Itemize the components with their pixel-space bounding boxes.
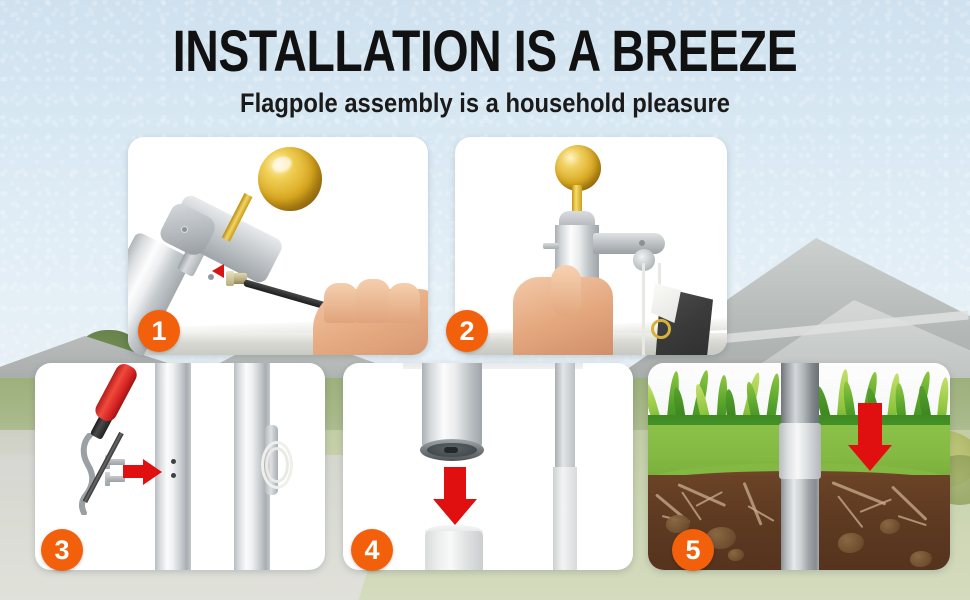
halyard-rope — [642, 263, 645, 355]
step-badge-5: 5 — [672, 529, 714, 571]
flagpole-bottom-section — [781, 363, 819, 425]
pilot-hole-upper — [171, 459, 176, 464]
finger — [356, 279, 390, 323]
swivel-truck-arm — [593, 233, 665, 254]
hex-key-tool — [243, 279, 331, 311]
finger — [388, 283, 420, 323]
assembled-pole-upper — [555, 363, 575, 475]
screwdriver-handle — [92, 363, 140, 424]
page-title: INSTALLATION IS A BREEZE — [97, 18, 873, 85]
assembled-pole-lower — [553, 467, 577, 570]
step-badge-2: 2 — [446, 310, 488, 352]
red-arrow-down-icon — [848, 403, 892, 473]
rope-coil-inner — [265, 447, 289, 483]
arm-screw — [639, 240, 645, 246]
flagpole-lower-section — [425, 531, 483, 570]
flagpole-upper-section — [422, 363, 482, 449]
snap-hook-ring — [651, 319, 671, 339]
sleeve-collar — [779, 423, 821, 479]
alignment-slot — [444, 447, 458, 453]
page-subtitle: Flagpole assembly is a household pleasur… — [58, 88, 912, 119]
red-arrow-down-icon — [433, 467, 477, 525]
infographic-canvas: INSTALLATION IS A BREEZE Flagpole assemb… — [0, 0, 970, 600]
thumb — [551, 265, 581, 317]
cap-screw — [182, 227, 187, 232]
step-badge-3: 3 — [41, 529, 83, 571]
pilot-hole-lower — [171, 473, 176, 478]
finger — [324, 283, 358, 323]
step-badge-4: 4 — [351, 529, 393, 571]
set-screw-head — [226, 271, 234, 286]
step-panel-2 — [455, 137, 727, 355]
gold-ball-finial — [258, 147, 322, 211]
red-arrow-icon — [212, 264, 224, 278]
step-badge-1: 1 — [138, 310, 180, 352]
side-bolt — [543, 243, 559, 249]
